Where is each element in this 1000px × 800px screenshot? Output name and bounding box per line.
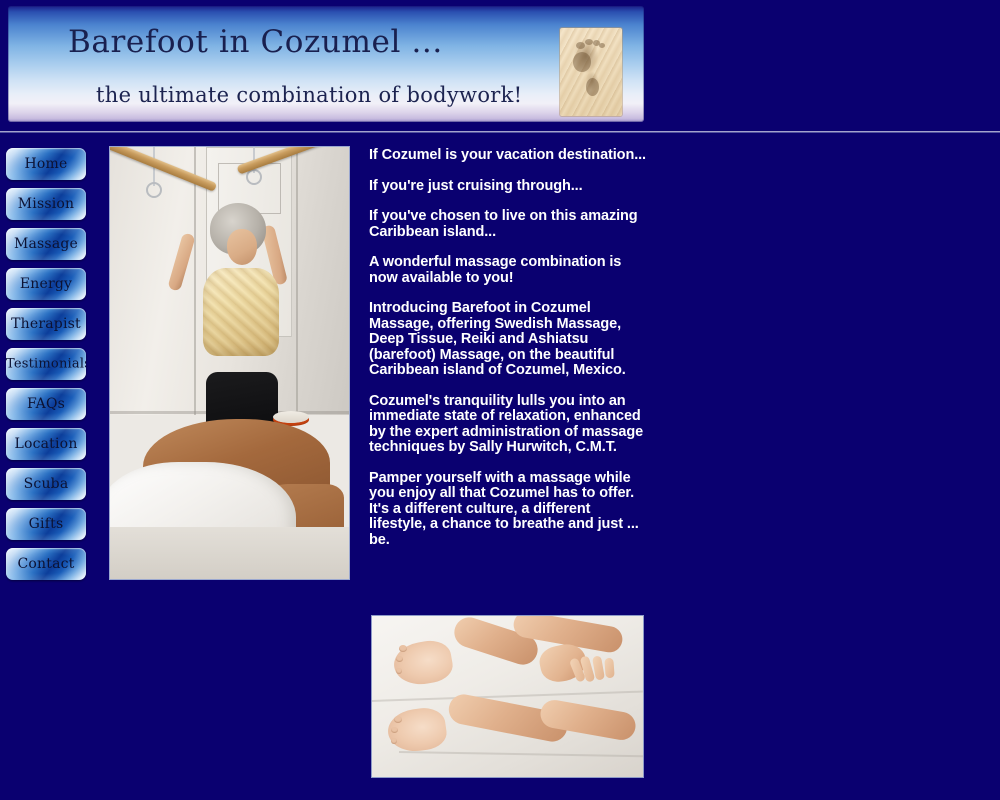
footprint-toe xyxy=(599,43,605,48)
content-paragraph: If Cozumel is your vacation destination.… xyxy=(369,148,651,164)
header-banner-gradient: Barefoot in Cozumel ... the ultimate com… xyxy=(8,6,644,122)
sidebar-navigation: Home Mission Massage Energy Therapist Te… xyxy=(6,148,90,588)
toe xyxy=(399,645,407,652)
sidebar-item-label: Gifts xyxy=(6,516,86,532)
massage-table-base xyxy=(110,527,349,579)
leg-massage-photo xyxy=(371,615,644,778)
header-divider xyxy=(0,131,1000,133)
content-paragraph: Cozumel's tranquility lulls you into an … xyxy=(369,394,651,456)
footprint-ball xyxy=(573,52,591,72)
wall-edge xyxy=(194,147,196,415)
site-subtitle: the ultimate combination of bodywork! xyxy=(96,83,522,107)
sidebar-item-label: Home xyxy=(6,156,86,172)
content-paragraph: Pamper yourself with a massage while you… xyxy=(369,471,651,549)
ashiatsu-massage-photo xyxy=(109,146,350,580)
therapist-face xyxy=(227,229,257,265)
wall-edge xyxy=(296,147,298,415)
therapist-torso-top xyxy=(203,268,279,356)
therapist-finger xyxy=(604,658,614,679)
sidebar-item-massage[interactable]: Massage xyxy=(6,228,86,260)
sidebar-item-label: Mission xyxy=(6,196,86,212)
footprint-toe xyxy=(585,39,593,45)
site-title: Barefoot in Cozumel ... xyxy=(68,24,443,60)
header-banner: Barefoot in Cozumel ... the ultimate com… xyxy=(0,0,652,128)
sidebar-item-label: FAQs xyxy=(6,396,86,412)
toe xyxy=(394,716,402,723)
content-paragraph: A wonderful massage combination is now a… xyxy=(369,255,651,286)
sidebar-item-contact[interactable]: Contact xyxy=(6,548,86,580)
toe xyxy=(391,727,398,733)
sidebar-item-label: Location xyxy=(6,436,86,452)
sidebar-item-label: Scuba xyxy=(6,476,86,492)
stool xyxy=(273,411,309,423)
sidebar-item-label: Energy xyxy=(6,276,86,292)
bar-ring xyxy=(146,182,162,198)
footprint-in-sand-image xyxy=(560,28,622,116)
toe xyxy=(396,668,402,674)
content-paragraph: If you've chosen to live on this amazing… xyxy=(369,209,651,240)
sidebar-item-scuba[interactable]: Scuba xyxy=(6,468,86,500)
sidebar-item-testimonials[interactable]: Testimonials xyxy=(6,348,86,380)
sidebar-item-label: Therapist xyxy=(6,316,86,332)
sidebar-item-energy[interactable]: Energy xyxy=(6,268,86,300)
sidebar-item-home[interactable]: Home xyxy=(6,148,86,180)
sidebar-item-label: Testimonials xyxy=(6,357,86,372)
sidebar-item-label: Contact xyxy=(6,556,86,572)
footprint-heel xyxy=(586,78,599,96)
sidebar-item-therapist[interactable]: Therapist xyxy=(6,308,86,340)
content-paragraph: If you're just cruising through... xyxy=(369,179,651,195)
sidebar-item-mission[interactable]: Mission xyxy=(6,188,86,220)
sidebar-item-gifts[interactable]: Gifts xyxy=(6,508,86,540)
sidebar-item-label: Massage xyxy=(6,236,86,252)
footprint-toe xyxy=(576,42,585,49)
sidebar-item-location[interactable]: Location xyxy=(6,428,86,460)
content-paragraph: Introducing Barefoot in Cozumel Massage,… xyxy=(369,301,651,379)
sidebar-item-faqs[interactable]: FAQs xyxy=(6,388,86,420)
main-content-text: If Cozumel is your vacation destination.… xyxy=(369,148,651,563)
